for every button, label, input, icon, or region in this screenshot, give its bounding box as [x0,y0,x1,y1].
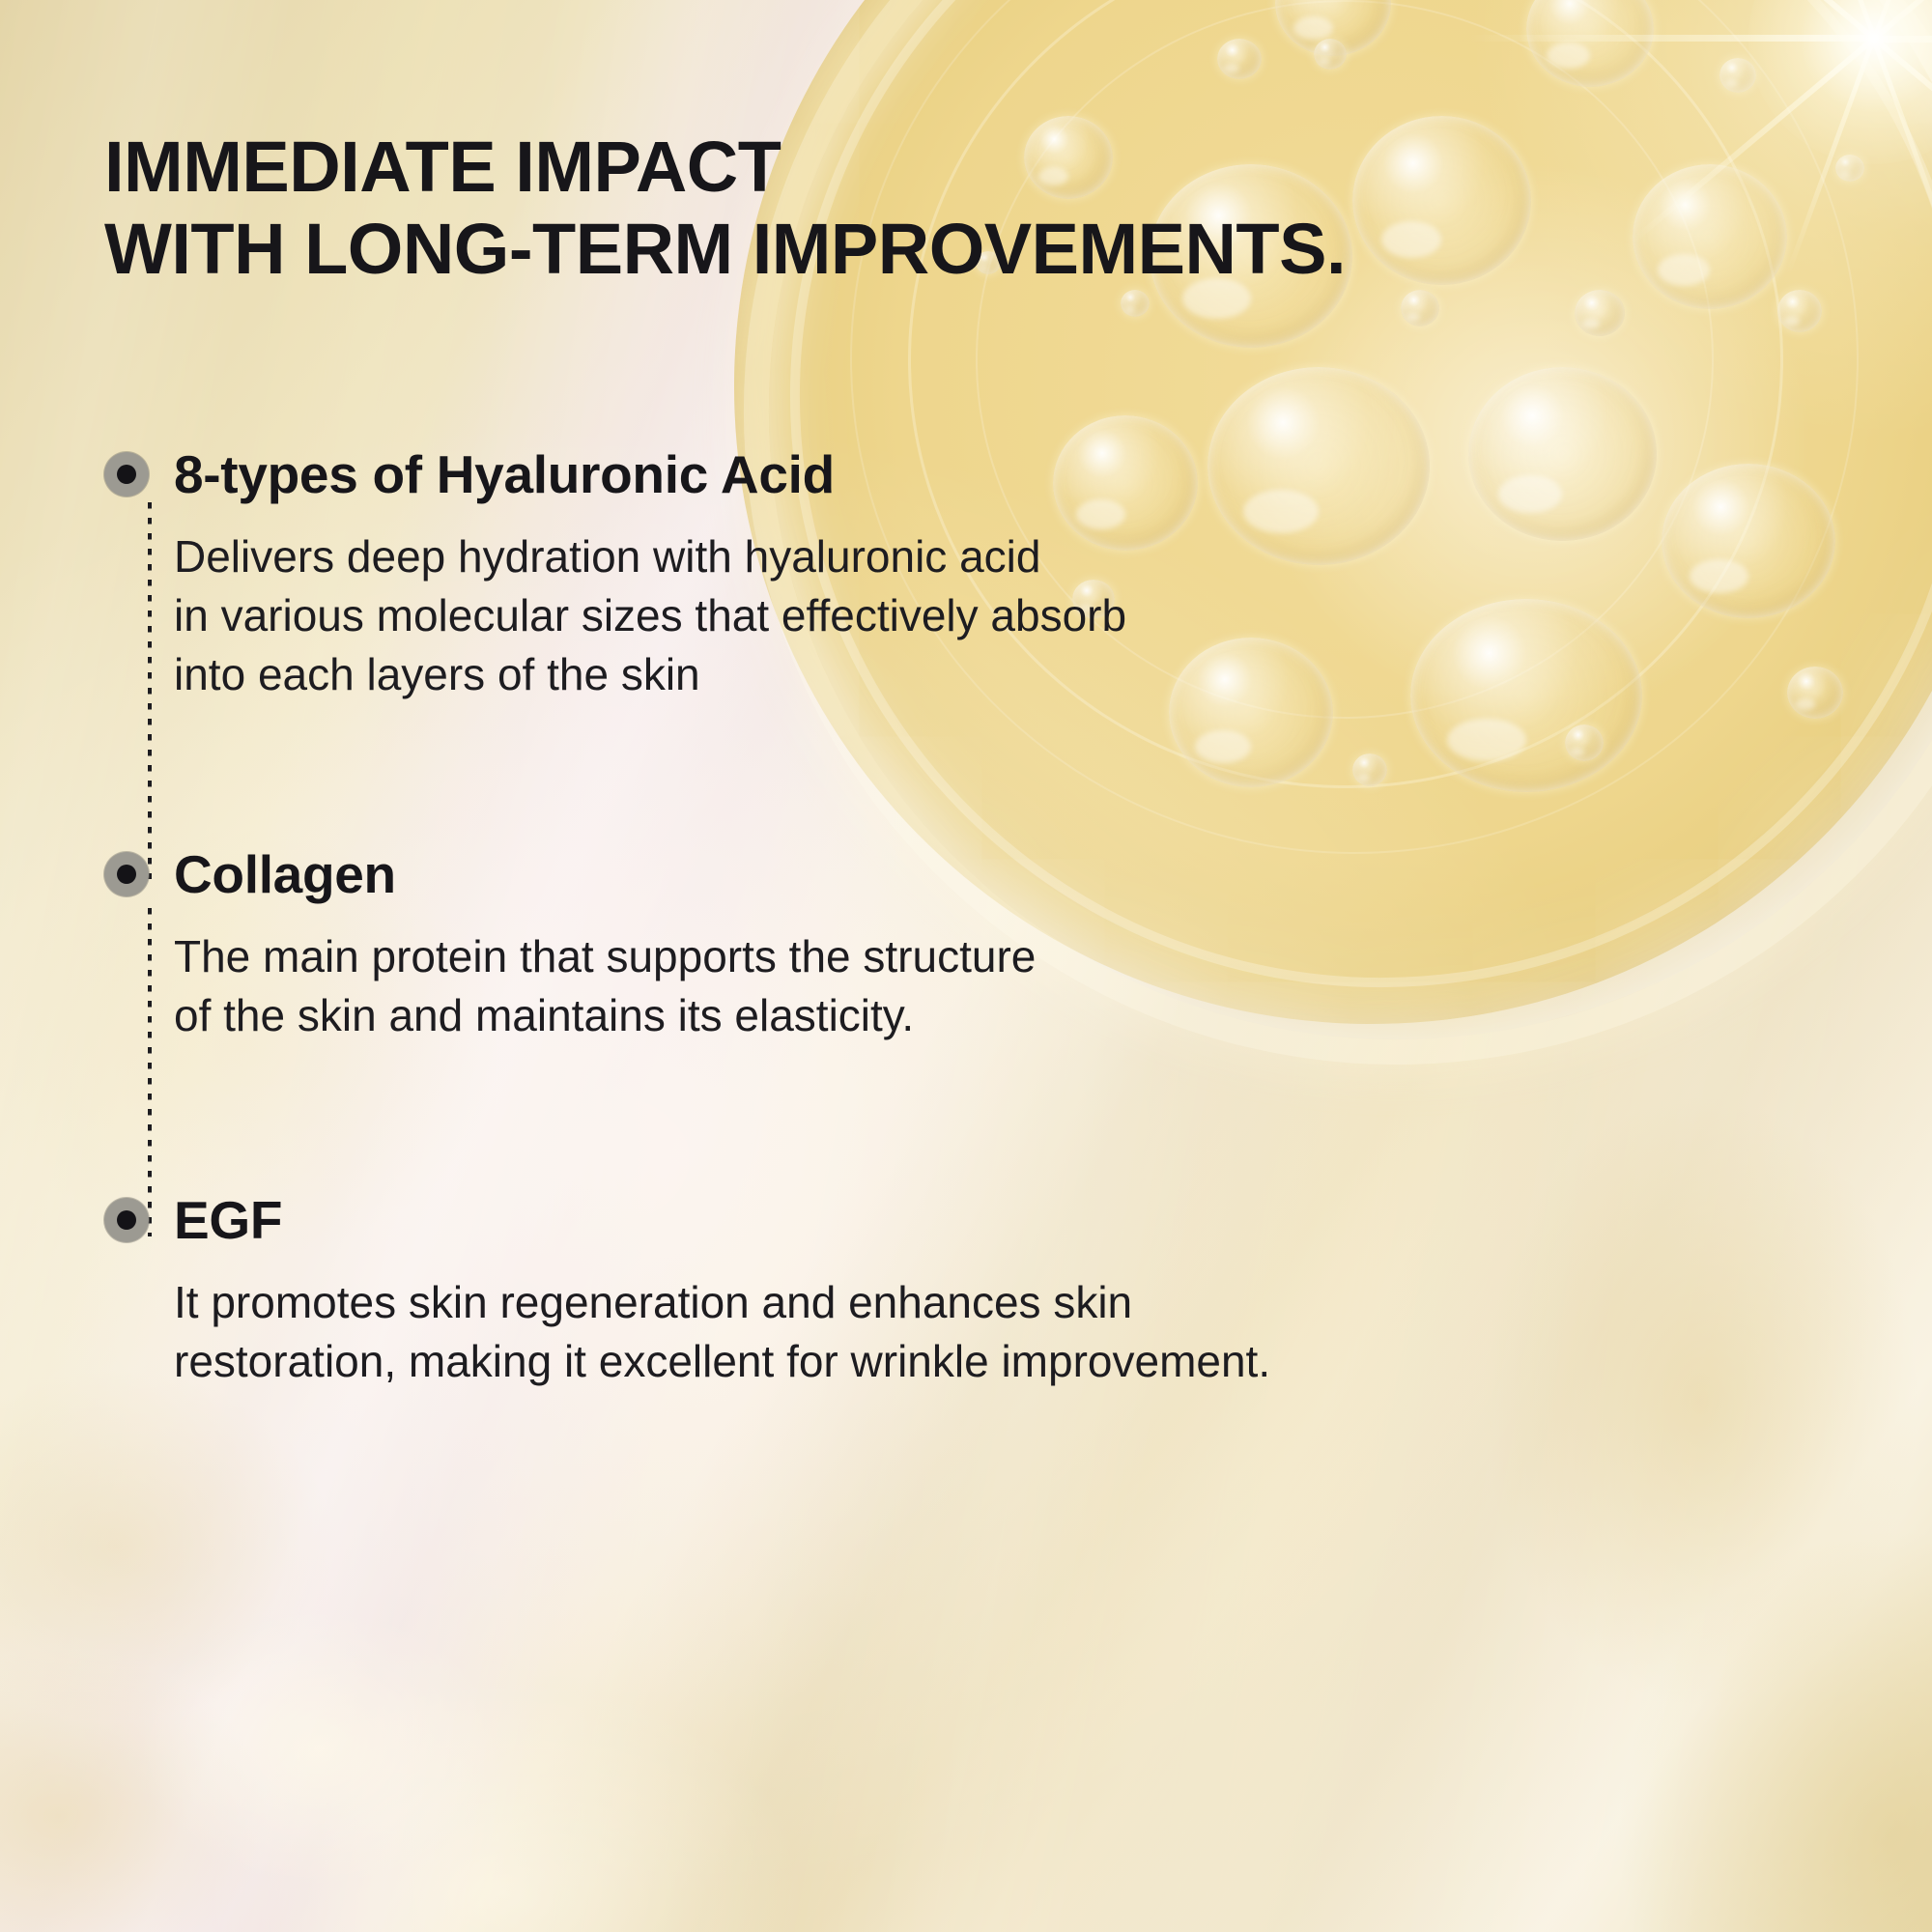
poster-canvas: IMMEDIATE IMPACT WITH LONG-TERM IMPROVEM… [0,0,1932,1932]
timeline-dotted-connector-1 [148,502,152,879]
list-item-title: EGF [174,1189,282,1251]
body-line: restoration, making it excellent for wri… [174,1332,1270,1391]
headline-line-2: WITH LONG-TERM IMPROVEMENTS. [104,208,1346,290]
list-item-title: Collagen [174,843,396,905]
headline-line-1: IMMEDIATE IMPACT [104,126,1346,208]
body-line: It promotes skin regeneration and enhanc… [174,1273,1270,1332]
body-line: of the skin and maintains its elasticity… [174,986,1036,1045]
timeline-dotted-connector-2 [148,908,152,1236]
list-item-body: The main protein that supports the struc… [174,927,1036,1045]
body-line: into each layers of the skin [174,645,1126,704]
poster-content: IMMEDIATE IMPACT WITH LONG-TERM IMPROVEM… [0,0,1932,1932]
page-title: IMMEDIATE IMPACT WITH LONG-TERM IMPROVEM… [104,126,1346,290]
body-line: The main protein that supports the struc… [174,927,1036,986]
body-line: in various molecular sizes that effectiv… [174,586,1126,645]
list-item-title: 8-types of Hyaluronic Acid [174,443,835,505]
bullet-dot-icon [104,1198,149,1242]
bullet-dot-icon [104,452,149,497]
body-line: Delivers deep hydration with hyaluronic … [174,527,1126,586]
list-item-body: Delivers deep hydration with hyaluronic … [174,527,1126,705]
bullet-dot-icon [104,852,149,896]
list-item-body: It promotes skin regeneration and enhanc… [174,1273,1270,1391]
